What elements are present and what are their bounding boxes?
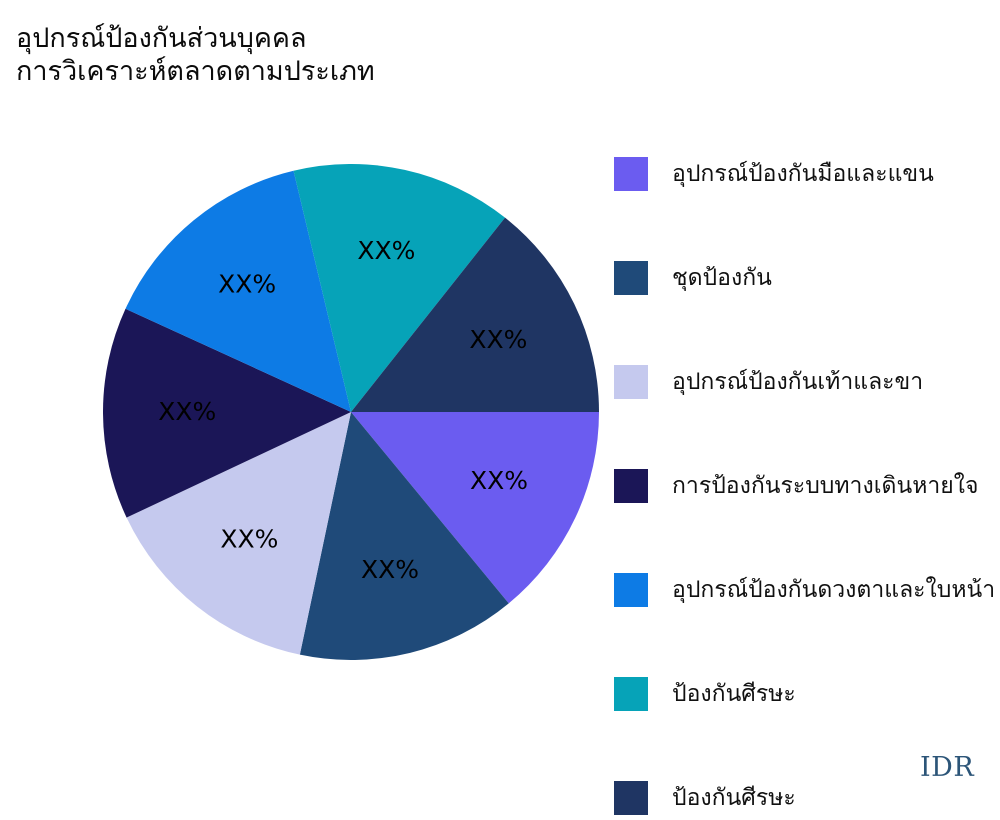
legend-item-label: อุปกรณ์ป้องกันมือและแขน — [672, 161, 934, 187]
legend-color-swatch-icon — [614, 261, 648, 295]
legend-item[interactable]: ป้องกันศีรษะ — [614, 776, 796, 820]
legend-color-swatch-icon — [614, 573, 648, 607]
pie-chart-svg: XX%XX%XX%XX%XX%XX%XX% — [103, 164, 599, 660]
legend-color-swatch-icon — [614, 469, 648, 503]
legend-item-label: ป้องกันศีรษะ — [672, 681, 796, 707]
legend-color-swatch-icon — [614, 157, 648, 191]
pie-slice-label: XX% — [361, 555, 419, 584]
title-line-2: การวิเคราะห์ตลาดตามประเภท — [16, 55, 636, 88]
pie-slice-label: XX% — [469, 325, 527, 354]
chart-legend: อุปกรณ์ป้องกันมือและแขนชุดป้องกันอุปกรณ์… — [614, 152, 1000, 800]
legend-item[interactable]: อุปกรณ์ป้องกันดวงตาและใบหน้า — [614, 568, 995, 612]
legend-item[interactable]: ชุดป้องกัน — [614, 256, 772, 300]
legend-item-label: ป้องกันศีรษะ — [672, 785, 796, 811]
legend-item[interactable]: ป้องกันศีรษะ — [614, 672, 796, 716]
title-line-1: อุปกรณ์ป้องกันส่วนบุคคล — [16, 22, 636, 55]
legend-item-label: อุปกรณ์ป้องกันเท้าและขา — [672, 369, 923, 395]
chart-page: อุปกรณ์ป้องกันส่วนบุคคล การวิเคราะห์ตลาด… — [0, 0, 1000, 800]
pie-chart: XX%XX%XX%XX%XX%XX%XX% — [103, 164, 599, 660]
legend-item-label: อุปกรณ์ป้องกันดวงตาและใบหน้า — [672, 577, 995, 603]
legend-color-swatch-icon — [614, 781, 648, 815]
pie-slice-label: XX% — [470, 466, 528, 495]
legend-item[interactable]: อุปกรณ์ป้องกันเท้าและขา — [614, 360, 923, 404]
legend-color-swatch-icon — [614, 365, 648, 399]
pie-slice-label: XX% — [220, 524, 278, 553]
pie-slice-label: XX% — [218, 270, 276, 299]
page-title: อุปกรณ์ป้องกันส่วนบุคคล การวิเคราะห์ตลาด… — [16, 22, 636, 88]
legend-item[interactable]: การป้องกันระบบทางเดินหายใจ — [614, 464, 978, 508]
legend-item[interactable]: อุปกรณ์ป้องกันมือและแขน — [614, 152, 934, 196]
pie-slice-label: XX% — [158, 397, 216, 426]
legend-color-swatch-icon — [614, 677, 648, 711]
legend-item-label: ชุดป้องกัน — [672, 265, 772, 291]
watermark-idr: IDR — [920, 752, 974, 783]
pie-slice-label: XX% — [357, 236, 415, 265]
legend-item-label: การป้องกันระบบทางเดินหายใจ — [672, 473, 978, 499]
